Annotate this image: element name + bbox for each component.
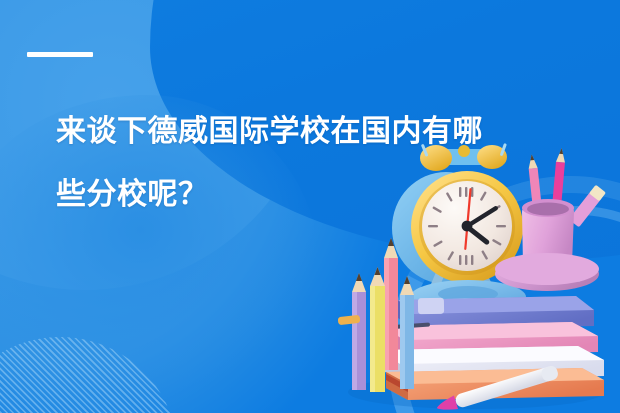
colored-pencil-blue	[400, 276, 414, 389]
colored-pencil-purple	[352, 273, 366, 390]
clock-knob	[458, 145, 470, 157]
pencil-cup-base-top	[495, 253, 599, 285]
pencil-cup-mouth-inner	[527, 203, 569, 216]
promo-banner: 来谈下德威国际学校在国内有哪 些分校呢？	[0, 0, 620, 413]
eraser-stick	[569, 185, 606, 228]
accent-rule	[27, 52, 93, 57]
colored-pencil-salmon	[384, 238, 398, 370]
colored-pencil-yellow	[370, 267, 385, 392]
school-supplies-illustration	[326, 140, 620, 413]
background-striped-circle-bottom-left	[0, 337, 178, 413]
clock-center-pin	[462, 221, 473, 232]
